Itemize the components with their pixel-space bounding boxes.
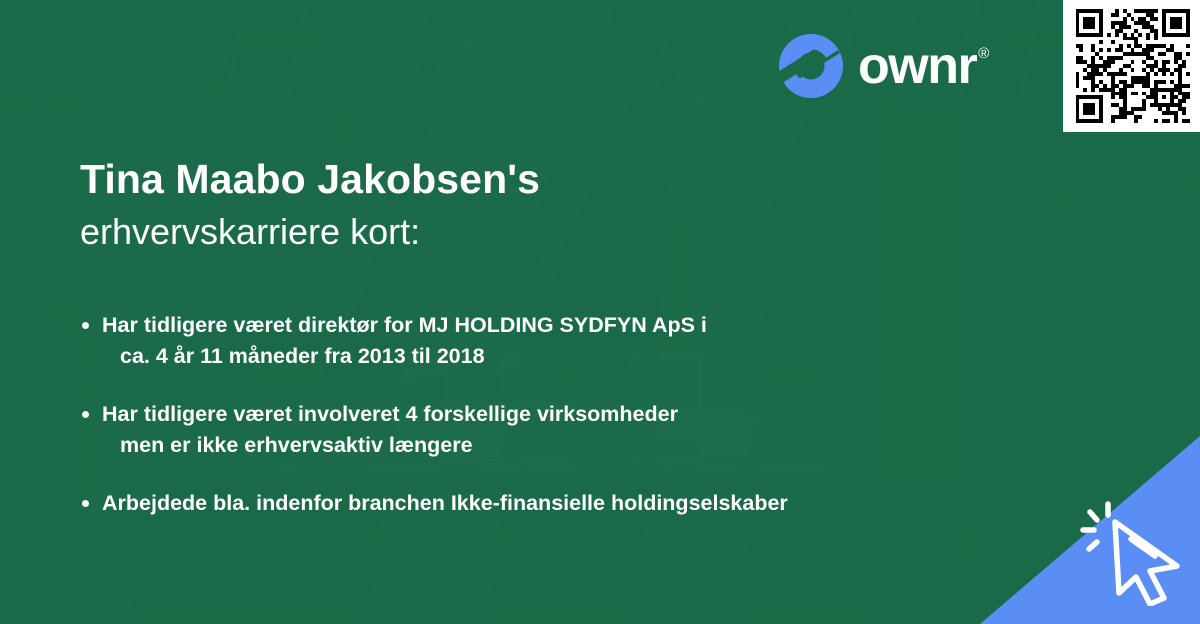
list-item-line1: Arbejdede bla. indenfor branchen Ikke-fi… xyxy=(102,488,1040,519)
page-title: Tina Maabo Jakobsen's erhvervskarriere k… xyxy=(80,155,980,254)
page-title-line2: erhvervskarriere kort: xyxy=(80,209,980,254)
registered-trademark-symbol: ® xyxy=(978,46,989,61)
list-item-line1: Har tidligere været direktør for MJ HOLD… xyxy=(102,310,1040,341)
career-bullet-list: Har tidligere været direktør for MJ HOLD… xyxy=(80,310,1040,519)
click-cursor-icon xyxy=(1074,494,1186,606)
bullet-dot-icon xyxy=(82,411,89,418)
list-item: Arbejdede bla. indenfor branchen Ikke-fi… xyxy=(80,488,1040,519)
list-item: Har tidligere været direktør for MJ HOLD… xyxy=(80,310,1040,373)
list-item-line2: men er ikke erhvervsaktiv længere xyxy=(102,430,1040,461)
career-card: ownr ® Tina Maabo Jakobsen's erhvervskar… xyxy=(0,0,1200,624)
ownr-logo[interactable]: ownr ® xyxy=(778,28,989,104)
list-item-line1: Har tidligere været involveret 4 forskel… xyxy=(102,399,1040,430)
list-item: Har tidligere været involveret 4 forskel… xyxy=(80,399,1040,462)
ownr-wordmark: ownr ® xyxy=(858,40,989,92)
page-title-line1: Tina Maabo Jakobsen's xyxy=(80,155,980,203)
qr-code-modules xyxy=(1076,9,1190,123)
ownr-wordmark-text: ownr xyxy=(858,40,976,92)
bullet-dot-icon xyxy=(82,322,89,329)
ownr-circle-swirl-icon xyxy=(778,33,844,99)
qr-code[interactable] xyxy=(1063,0,1200,132)
list-item-line2: ca. 4 år 11 måneder fra 2013 til 2018 xyxy=(102,341,1040,372)
bullet-dot-icon xyxy=(82,500,89,507)
